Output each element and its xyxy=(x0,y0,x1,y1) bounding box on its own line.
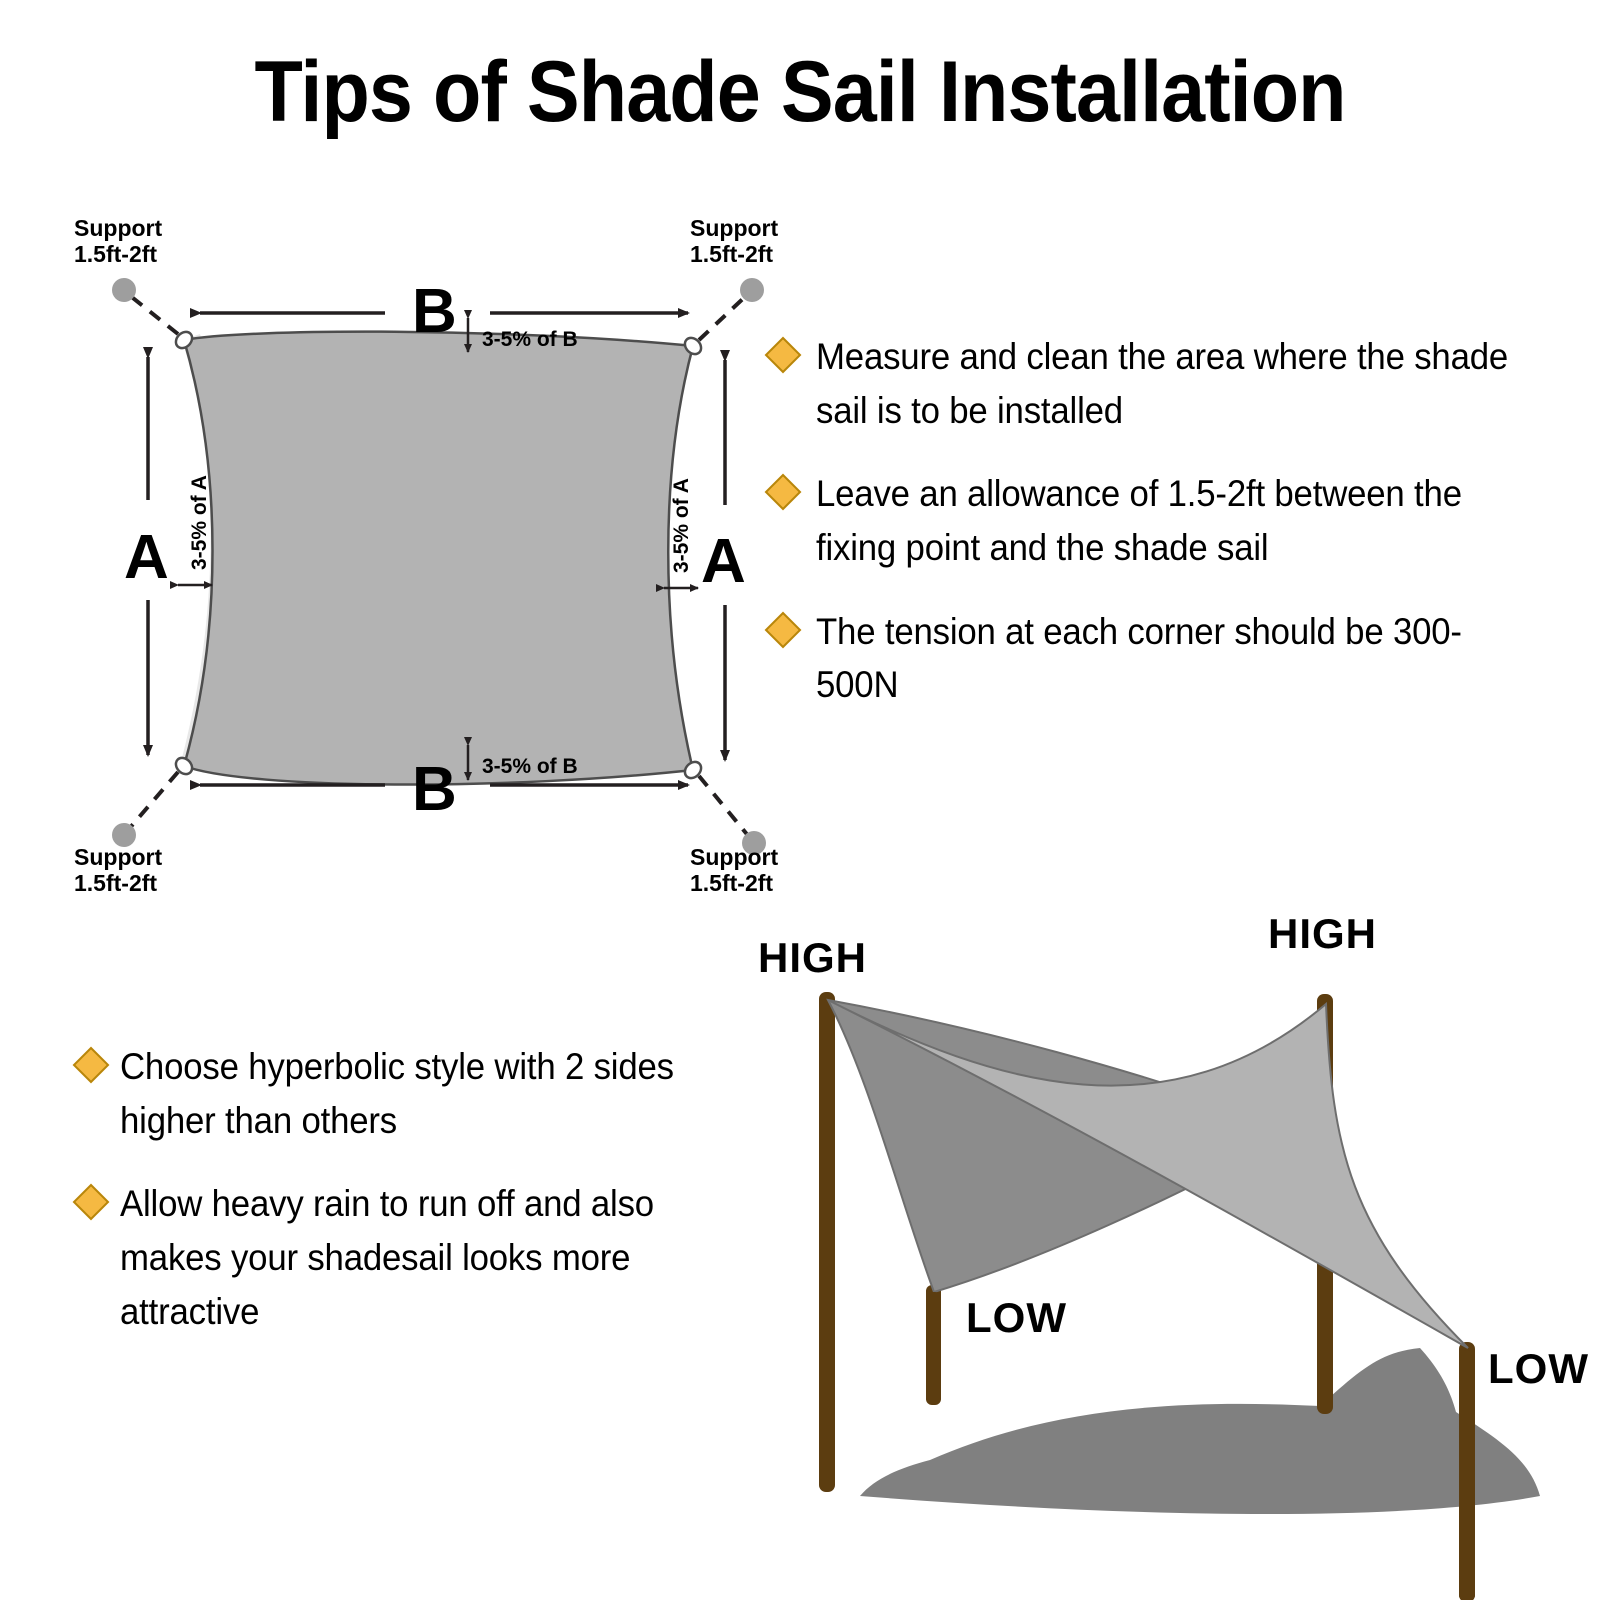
tip-text: Leave an allowance of 1.5-2ft between th… xyxy=(816,467,1525,574)
support-label-top-right: Support 1.5ft-2ft xyxy=(690,215,778,267)
support-label-line1: Support xyxy=(74,844,162,870)
tip-item: Choose hyperbolic style with 2 sides hig… xyxy=(78,1040,778,1147)
support-dot-top-right xyxy=(740,278,764,302)
diamond-bullet-icon xyxy=(765,337,802,374)
hyperbolic-shade-sail-diagram: HIGH HIGH LOW LOW xyxy=(740,900,1600,1600)
square-shade-sail-diagram: Support 1.5ft-2ft Support 1.5ft-2ft Supp… xyxy=(60,210,780,890)
tip-text: The tension at each corner should be 300… xyxy=(816,605,1525,712)
curvature-label-top: 3-5% of B xyxy=(482,328,578,351)
tip-text: Choose hyperbolic style with 2 sides hig… xyxy=(120,1040,739,1147)
page-title: Tips of Shade Sail Installation xyxy=(64,44,1536,140)
dimension-label-a-left: A xyxy=(124,523,169,592)
curvature-label-bottom: 3-5% of B xyxy=(482,755,578,778)
support-label-line2: 1.5ft-2ft xyxy=(690,870,773,896)
support-label-line2: 1.5ft-2ft xyxy=(690,241,773,267)
tip-text: Measure and clean the area where the sha… xyxy=(816,330,1525,437)
support-label-line2: 1.5ft-2ft xyxy=(74,870,157,896)
dimension-label-b-top: B xyxy=(412,277,457,346)
installation-tips-list-left: Choose hyperbolic style with 2 sides hig… xyxy=(78,1040,778,1368)
diamond-bullet-icon xyxy=(73,1184,110,1221)
support-label-line1: Support xyxy=(690,215,778,241)
diamond-bullet-icon xyxy=(765,474,802,511)
diamond-bullet-icon xyxy=(765,611,802,648)
dimension-label-a-right: A xyxy=(701,527,746,596)
pole-front-left-fg xyxy=(926,1292,941,1404)
tip-text: Allow heavy rain to run off and also mak… xyxy=(120,1177,739,1338)
curvature-label-right: 3-5% of A xyxy=(670,478,693,573)
tip-item: The tension at each corner should be 300… xyxy=(770,605,1570,712)
tip-item: Measure and clean the area where the sha… xyxy=(770,330,1570,437)
support-label-line1: Support xyxy=(690,844,778,870)
tip-item: Leave an allowance of 1.5-2ft between th… xyxy=(770,467,1570,574)
corner-label-high-left: HIGH xyxy=(758,934,867,981)
support-label-bottom-left: Support 1.5ft-2ft xyxy=(74,844,162,896)
corner-label-high-right: HIGH xyxy=(1268,910,1377,957)
support-dot-top-left xyxy=(112,278,136,302)
installation-tips-list-right: Measure and clean the area where the sha… xyxy=(770,330,1570,742)
diamond-bullet-icon xyxy=(73,1047,110,1084)
pole-top-left xyxy=(819,992,835,1492)
support-label-top-left: Support 1.5ft-2ft xyxy=(74,215,162,267)
dimension-label-b-bottom: B xyxy=(412,755,457,824)
pole-front-right-fg xyxy=(1459,1350,1475,1600)
support-label-bottom-right: Support 1.5ft-2ft xyxy=(690,844,778,896)
curvature-label-left: 3-5% of A xyxy=(188,475,211,570)
ground-shadow xyxy=(860,1348,1540,1514)
tip-item: Allow heavy rain to run off and also mak… xyxy=(78,1177,778,1338)
support-label-line2: 1.5ft-2ft xyxy=(74,241,157,267)
support-label-line1: Support xyxy=(74,215,162,241)
corner-label-low-right: LOW xyxy=(1488,1345,1589,1392)
shade-sail-body xyxy=(184,332,693,785)
corner-label-low-left: LOW xyxy=(966,1294,1067,1341)
